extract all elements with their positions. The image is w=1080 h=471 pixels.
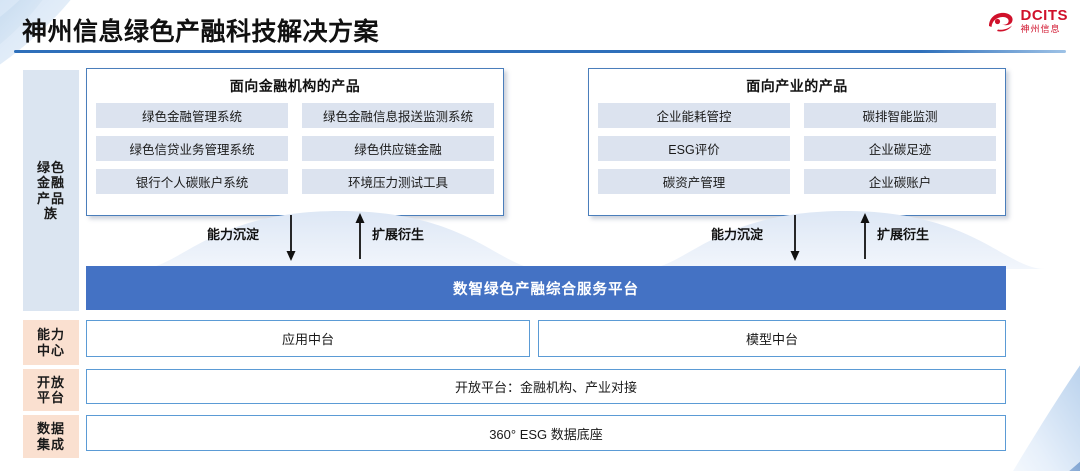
logo-en-text: DCITS	[1021, 8, 1069, 23]
flow-label-capability-precipitation-left: 能力沉淀	[207, 224, 259, 243]
layer-box-model-middle-platform[interactable]: 模型中台	[538, 320, 1006, 357]
sidebar-item-data-integration[interactable]: 数据 集成	[23, 415, 79, 458]
product-chip[interactable]: 绿色金融管理系统	[96, 103, 288, 128]
product-chip[interactable]: 碳排智能监测	[804, 103, 996, 128]
product-chip[interactable]: 绿色供应链金融	[302, 136, 494, 161]
product-chip[interactable]: 碳资产管理	[598, 169, 790, 194]
layer-box-data-foundation[interactable]: 360° ESG 数据底座	[86, 415, 1006, 451]
decorative-swoosh-bottom-right	[940, 341, 1080, 471]
layer-box-app-middle-platform[interactable]: 应用中台	[86, 320, 530, 357]
sidebar-item-ability-center[interactable]: 能力 中心	[23, 320, 79, 365]
flow-label-expansion-derivation-left: 扩展衍生	[372, 224, 424, 243]
sidebar-item-green-finance-family[interactable]: 绿色 金融 产品 族	[23, 70, 79, 311]
sidebar-label-line: 金融	[37, 175, 65, 190]
arrow-up-expansion-derivation-left	[353, 213, 367, 259]
product-group-title: 面向金融机构的产品	[96, 76, 494, 96]
decorative-dome-left	[140, 211, 540, 269]
sidebar-label-line: 数据	[37, 421, 65, 436]
sidebar-label-line: 能力	[37, 327, 65, 342]
decorative-dome-right	[645, 211, 1045, 269]
sidebar-item-open-platform[interactable]: 开放 平台	[23, 369, 79, 411]
arrow-down-capability-precipitation-right	[788, 215, 802, 261]
sidebar-label-line: 中心	[37, 343, 65, 358]
sidebar-label-line: 集成	[37, 437, 65, 452]
product-chip[interactable]: ESG评价	[598, 136, 790, 161]
slide-canvas: 神州信息绿色产融科技解决方案 DCITS 神州信息 绿色 金融 产品 族 能力 …	[0, 0, 1080, 471]
product-chip-grid: 绿色金融管理系统 绿色金融信息报送监测系统 绿色信贷业务管理系统 绿色供应链金融…	[96, 103, 494, 194]
platform-bar-label: 数智绿色产融综合服务平台	[453, 278, 639, 299]
header-divider	[14, 50, 1066, 53]
sidebar-label-line: 绿色	[37, 160, 65, 175]
sidebar-label-data-integration: 数据 集成	[37, 421, 65, 452]
product-chip-grid: 企业能耗管控 碳排智能监测 ESG评价 企业碳足迹 碳资产管理 企业碳账户	[598, 103, 996, 194]
product-chip[interactable]: 绿色金融信息报送监测系统	[302, 103, 494, 128]
flow-label-capability-precipitation-right: 能力沉淀	[711, 224, 763, 243]
product-chip[interactable]: 企业能耗管控	[598, 103, 790, 128]
page-title: 神州信息绿色产融科技解决方案	[22, 12, 379, 48]
sidebar-label-line: 开放	[37, 375, 65, 390]
product-chip[interactable]: 企业碳账户	[804, 169, 996, 194]
sidebar-label-ability-center: 能力 中心	[37, 327, 65, 358]
product-group-financial-institutions: 面向金融机构的产品 绿色金融管理系统 绿色金融信息报送监测系统 绿色信贷业务管理…	[86, 68, 504, 216]
sidebar-label-line: 族	[37, 206, 65, 221]
dcits-swoosh-icon	[986, 9, 1016, 33]
flow-label-expansion-derivation-right: 扩展衍生	[877, 224, 929, 243]
product-chip[interactable]: 环境压力测试工具	[302, 169, 494, 194]
product-group-title: 面向产业的产品	[598, 76, 996, 96]
logo-cn-text: 神州信息	[1021, 25, 1069, 34]
sidebar-label-line: 平台	[37, 390, 65, 405]
product-chip[interactable]: 银行个人碳账户系统	[96, 169, 288, 194]
arrow-up-expansion-derivation-right	[858, 213, 872, 259]
product-group-industry: 面向产业的产品 企业能耗管控 碳排智能监测 ESG评价 企业碳足迹 碳资产管理 …	[588, 68, 1006, 216]
arrow-down-capability-precipitation-left	[284, 215, 298, 261]
sidebar-label-line: 产品	[37, 191, 65, 206]
product-chip[interactable]: 企业碳足迹	[804, 136, 996, 161]
platform-bar[interactable]: 数智绿色产融综合服务平台	[86, 266, 1006, 310]
layer-box-open-platform[interactable]: 开放平台：金融机构、产业对接	[86, 369, 1006, 404]
brand-logo: DCITS 神州信息	[986, 8, 1069, 34]
product-chip[interactable]: 绿色信贷业务管理系统	[96, 136, 288, 161]
sidebar-label-open-platform: 开放 平台	[37, 375, 65, 406]
sidebar-label-green-finance-family: 绿色 金融 产品 族	[37, 160, 65, 221]
